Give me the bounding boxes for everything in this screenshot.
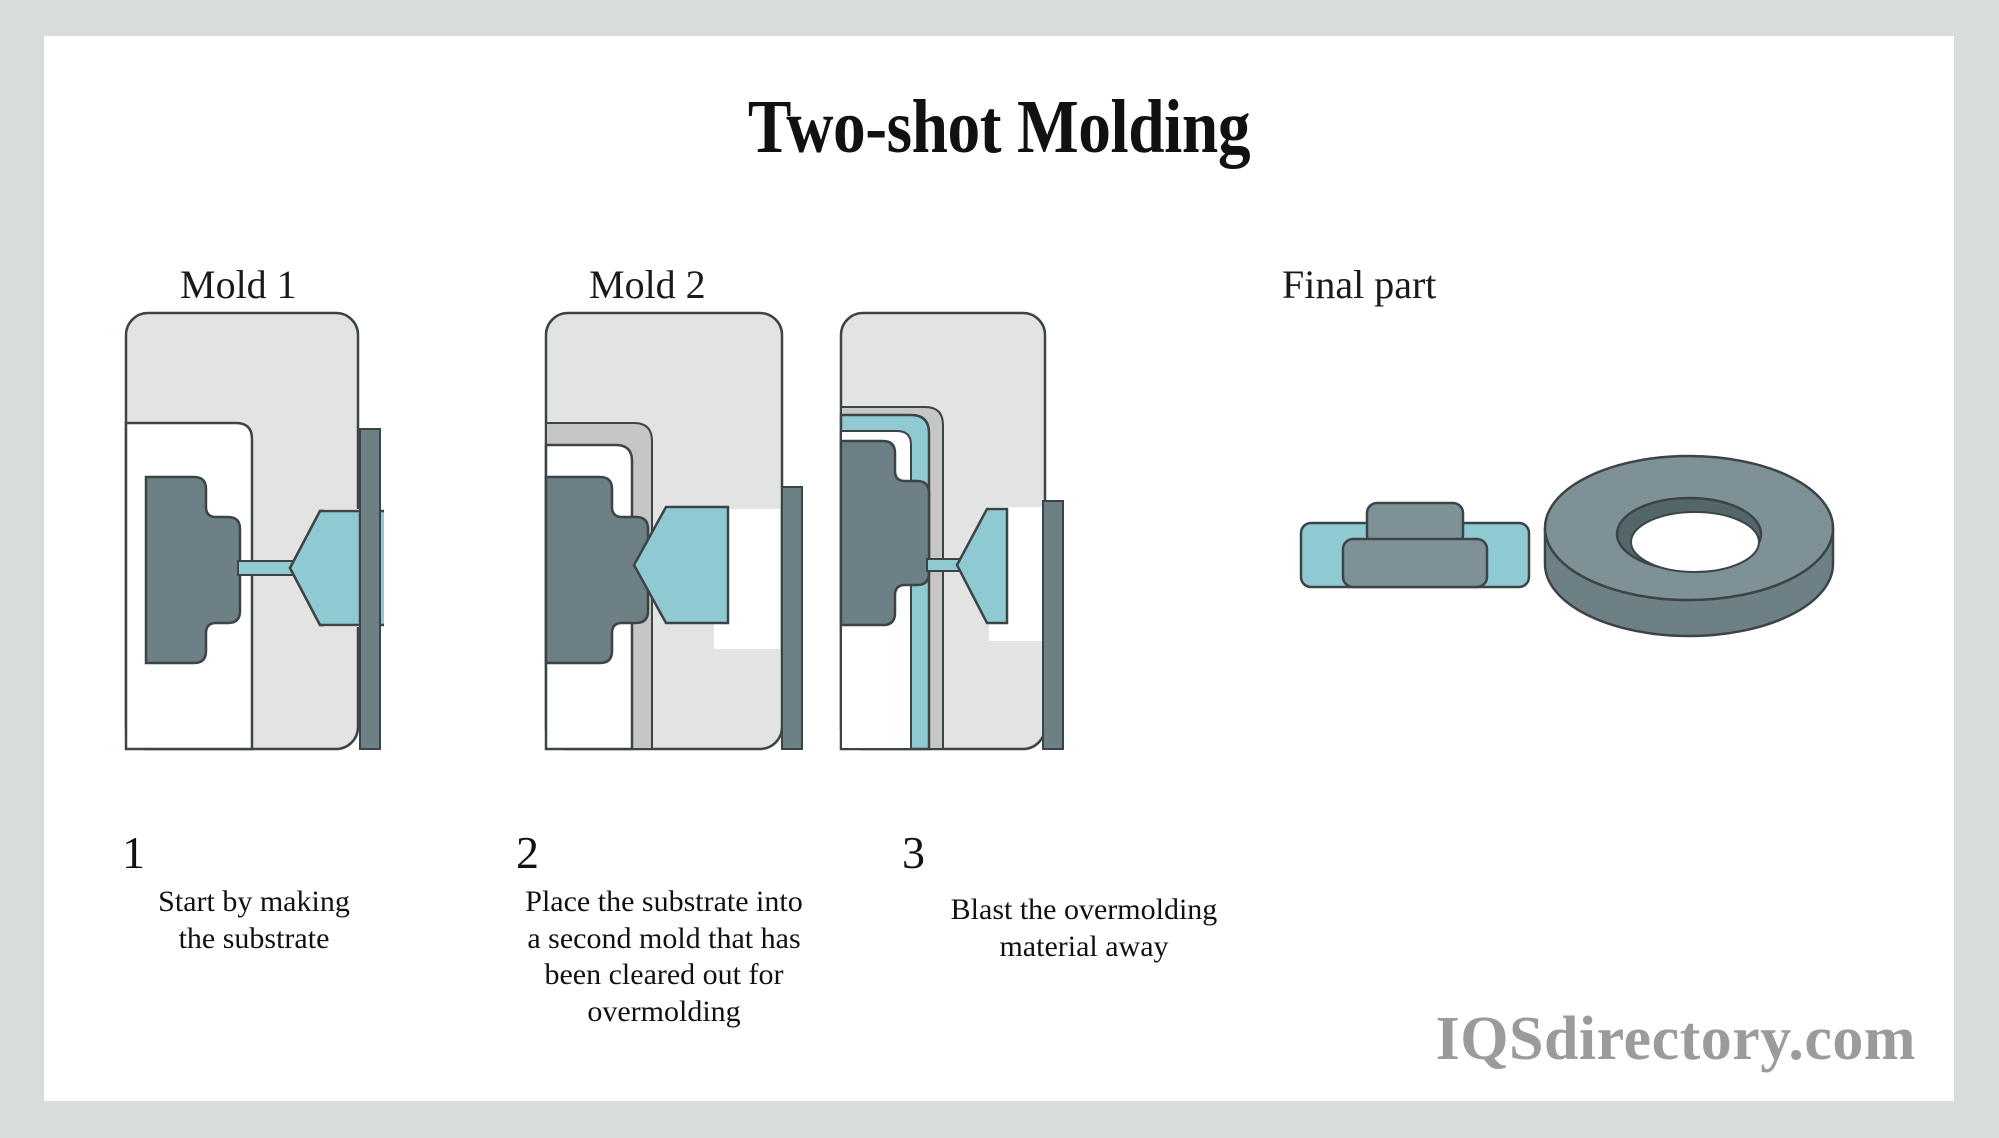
step-caption-2: Place the substrate into a second mold t… <box>464 884 864 1030</box>
diagram-card: Two-shot Molding Mold 1 Mold 2 Final par… <box>44 36 1954 1101</box>
mold-panel-3 <box>839 311 1089 751</box>
stage-label-final-part: Final part <box>1282 261 1436 308</box>
mold-panel-1 <box>124 311 384 751</box>
final-part-flat <box>1299 491 1539 611</box>
step-caption-3-line-2: material away <box>874 929 1294 966</box>
watermark-iqsdirectory: IQSdirectory.com <box>1436 1004 1916 1075</box>
ring-bore-opening <box>1631 512 1759 572</box>
step-caption-2-line-1: Place the substrate into <box>464 884 864 921</box>
mold-panel-2 <box>544 311 806 751</box>
final-part-ring <box>1539 446 1839 656</box>
step-number-2: 2 <box>516 826 539 879</box>
ejector-bar-2 <box>782 487 802 749</box>
step-number-1: 1 <box>122 826 145 879</box>
step-caption-3: Blast the overmolding material away <box>874 892 1294 965</box>
step-caption-2-line-3: been cleared out for <box>464 957 864 994</box>
page-background: Two-shot Molding Mold 1 Mold 2 Final par… <box>0 0 1999 1138</box>
ejector-bar-3 <box>1043 501 1063 749</box>
stage-label-mold-2: Mold 2 <box>589 261 706 308</box>
final-substrate-body <box>1343 539 1487 587</box>
step-caption-3-line-1: Blast the overmolding <box>874 892 1294 929</box>
step-caption-1-line-2: the substrate <box>64 921 444 958</box>
runner-1 <box>238 561 294 575</box>
stage-label-mold-1: Mold 1 <box>180 261 297 308</box>
step-caption-2-line-4: overmolding <box>464 994 864 1031</box>
ejector-bar-1 <box>360 429 380 749</box>
page-title: Two-shot Molding <box>178 84 1821 171</box>
step-caption-2-line-2: a second mold that has <box>464 921 864 958</box>
step-number-3: 3 <box>902 826 925 879</box>
step-caption-1: Start by making the substrate <box>64 884 444 957</box>
step-caption-1-line-1: Start by making <box>64 884 444 921</box>
